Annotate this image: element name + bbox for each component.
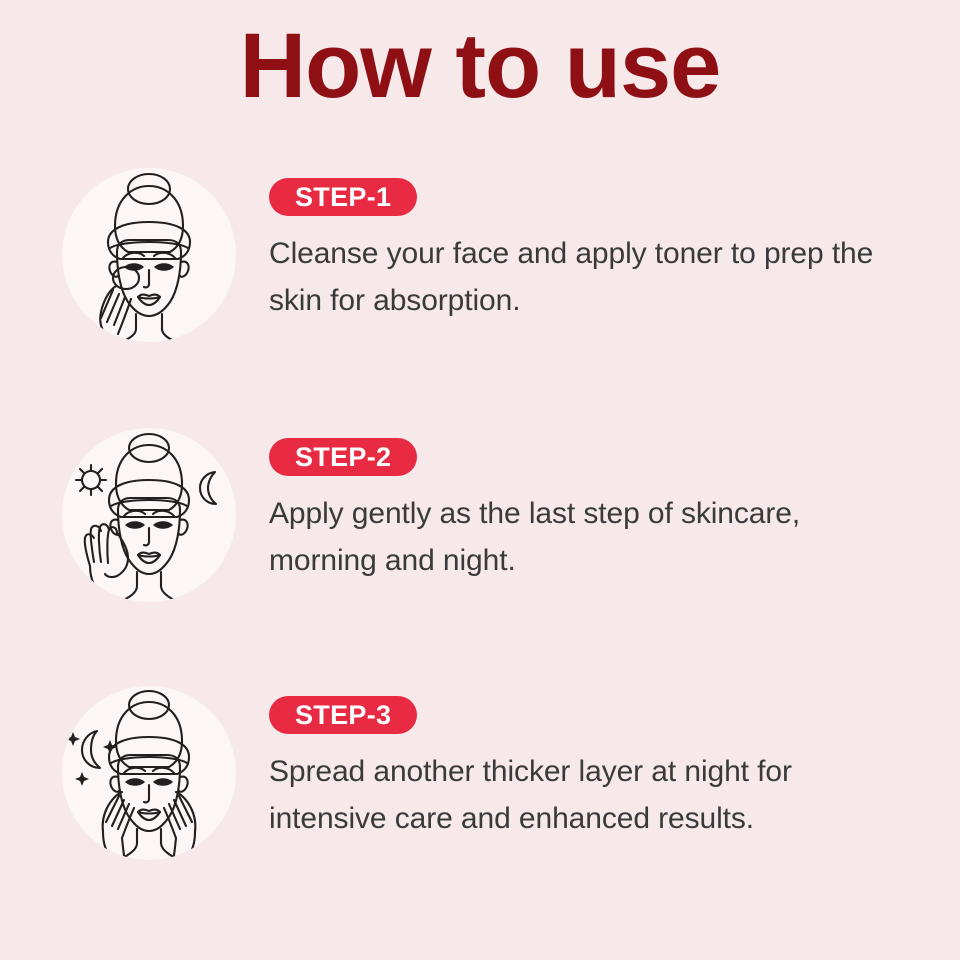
step-1-illustration [60,166,238,344]
sun-icon [76,465,106,495]
page-title: How to use [0,16,960,116]
step-3-badge: STEP-3 [269,696,417,734]
moon-icon [200,472,216,504]
step-3-text: Spread another thicker layer at night fo… [269,748,909,842]
step-1-badge: STEP-1 [269,178,417,216]
woman-cleansing-face-with-cotton-pad-icon [60,166,238,344]
step-row-2: STEP-2 Apply gently as the last step of … [0,420,960,620]
step-2-content: STEP-2 Apply gently as the last step of … [269,420,960,584]
how-to-use-infographic: How to use [0,0,960,960]
step-1-text: Cleanse your face and apply toner to pre… [269,230,909,324]
step-3-content: STEP-3 Spread another thicker layer at n… [269,678,960,842]
step-3-illustration [60,684,238,862]
woman-applying-product-with-open-hand-icon [60,426,238,604]
step-row-3: STEP-3 Spread another thicker layer at n… [0,678,960,878]
step-1-content: STEP-1 Cleanse your face and apply toner… [269,160,960,324]
woman-pressing-both-hands-on-cheeks-icon [60,684,238,862]
step-2-illustration [60,426,238,604]
step-2-text: Apply gently as the last step of skincar… [269,490,909,584]
step-row-1: STEP-1 Cleanse your face and apply toner… [0,160,960,360]
step-2-badge: STEP-2 [269,438,417,476]
